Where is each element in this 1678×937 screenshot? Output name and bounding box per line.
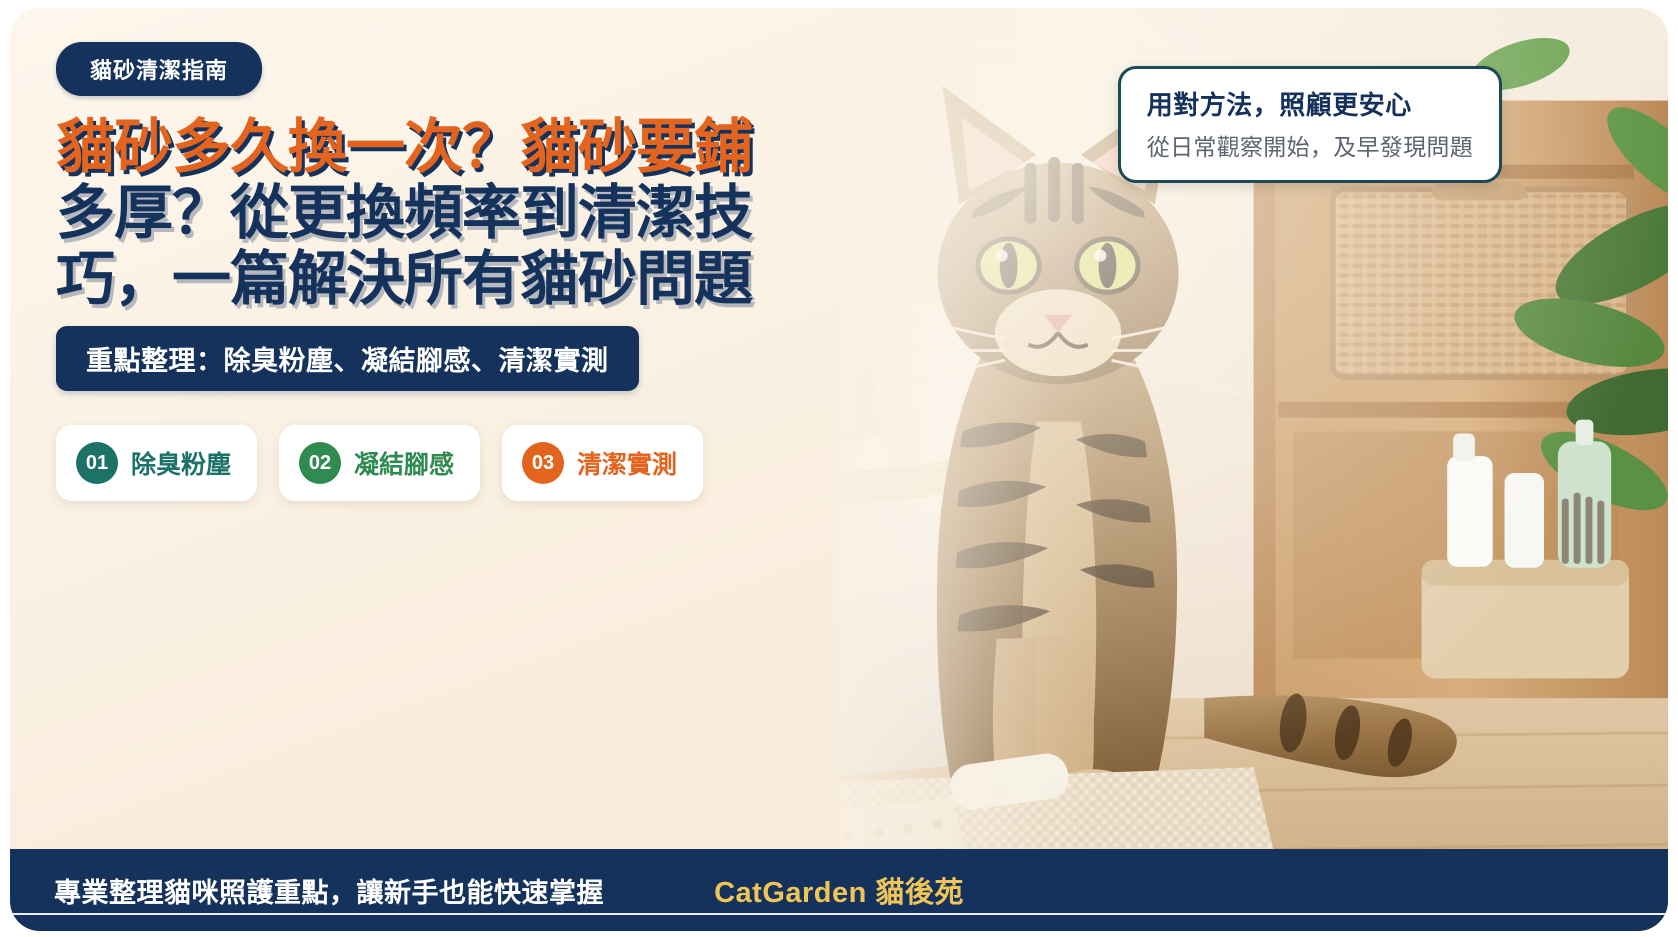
- chip-number-badge-3: 03: [522, 442, 564, 484]
- footer-tagline: 專業整理貓咪照護重點，讓新手也能快速掌握: [54, 871, 604, 910]
- feature-chip-3[interactable]: 03 清潔實測: [502, 425, 703, 501]
- chip-number-badge-1: 01: [76, 442, 118, 484]
- page-title: 貓砂多久換一次？貓砂要鋪 多厚？從更換頻率到清潔技 巧，一篇解決所有貓砂問題: [56, 114, 796, 312]
- title-line-3: 巧，一篇解決所有貓砂問題: [56, 246, 796, 312]
- feature-chip-list: 01 除臭粉塵 02 凝結腳感 03 清潔實測: [56, 425, 796, 501]
- feature-chip-2[interactable]: 02 凝結腳感: [279, 425, 480, 501]
- callout-card: 用對方法，照顧更安心 從日常觀察開始，及早發現問題: [1118, 66, 1502, 183]
- chip-number-badge-2: 02: [299, 442, 341, 484]
- footer-brand: CatGarden 貓後苑: [714, 869, 964, 911]
- chip-label-3: 清潔實測: [577, 445, 677, 481]
- chip-label-1: 除臭粉塵: [131, 445, 231, 481]
- title-line-1: 貓砂多久換一次？貓砂要鋪: [56, 114, 796, 180]
- eyebrow-badge: 貓砂清潔指南: [56, 42, 262, 96]
- feature-chip-1[interactable]: 01 除臭粉塵: [56, 425, 257, 501]
- title-line-2: 多厚？從更換頻率到清潔技: [56, 180, 796, 246]
- page-frame: 貓砂清潔指南 貓砂多久換一次？貓砂要鋪 多厚？從更換頻率到清潔技 巧，一篇解決所…: [0, 0, 1678, 937]
- subtitle-bar: 重點整理：除臭粉塵、凝結腳感、清潔實測: [56, 326, 639, 391]
- footer-divider: [10, 913, 1668, 915]
- footer-bar: 專業整理貓咪照護重點，讓新手也能快速掌握 CatGarden 貓後苑: [10, 849, 1668, 931]
- callout-title: 用對方法，照顧更安心: [1147, 85, 1473, 122]
- hero-card: 貓砂清潔指南 貓砂多久換一次？貓砂要鋪 多厚？從更換頻率到清潔技 巧，一篇解決所…: [10, 8, 1668, 931]
- left-content: 貓砂清潔指南 貓砂多久換一次？貓砂要鋪 多厚？從更換頻率到清潔技 巧，一篇解決所…: [10, 8, 796, 501]
- callout-subtitle: 從日常觀察開始，及早發現問題: [1147, 128, 1473, 162]
- chip-label-2: 凝結腳感: [354, 445, 454, 481]
